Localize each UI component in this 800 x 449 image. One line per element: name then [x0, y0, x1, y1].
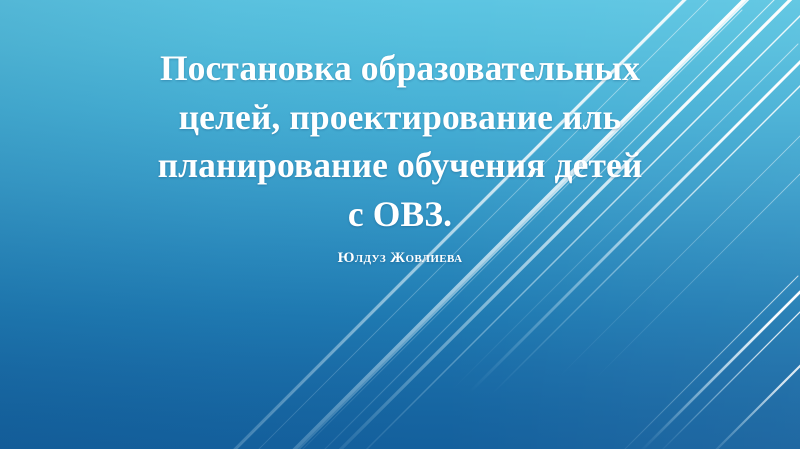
slide-subtitle-author: Юлдуз Жовлиева — [0, 249, 800, 267]
title-line-4: с ОВЗ. — [28, 190, 772, 239]
title-slide: Постановка образовательных целей, проект… — [0, 0, 800, 449]
slide-title: Постановка образовательных целей, проект… — [0, 44, 800, 238]
slide-text-block: Постановка образовательных целей, проект… — [0, 44, 800, 267]
title-line-2: целей, проектирование иль — [28, 93, 772, 142]
title-line-3: планирование обучения детей — [28, 141, 772, 190]
title-line-1: Постановка образовательных — [28, 44, 772, 93]
